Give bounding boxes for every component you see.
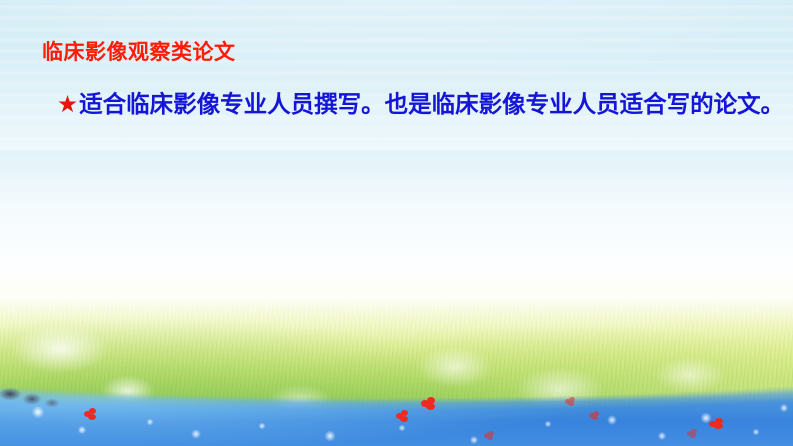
red-star-bullet-icon: ★ [57, 91, 78, 117]
slide-canvas: 临床影像观察类论文 ★适合临床影像专业人员撰写。也是临床影像专业人员适合写的论文… [0, 0, 793, 446]
slide-content: 临床影像观察类论文 ★适合临床影像专业人员撰写。也是临床影像专业人员适合写的论文… [0, 0, 793, 446]
slide-body-line: ★适合临床影像专业人员撰写。也是临床影像专业人员适合写的论文。 [57, 90, 784, 118]
slide-body-text: 适合临床影像专业人员撰写。也是临床影像专业人员适合写的论文。 [79, 91, 784, 117]
slide-title: 临床影像观察类论文 [42, 41, 236, 65]
